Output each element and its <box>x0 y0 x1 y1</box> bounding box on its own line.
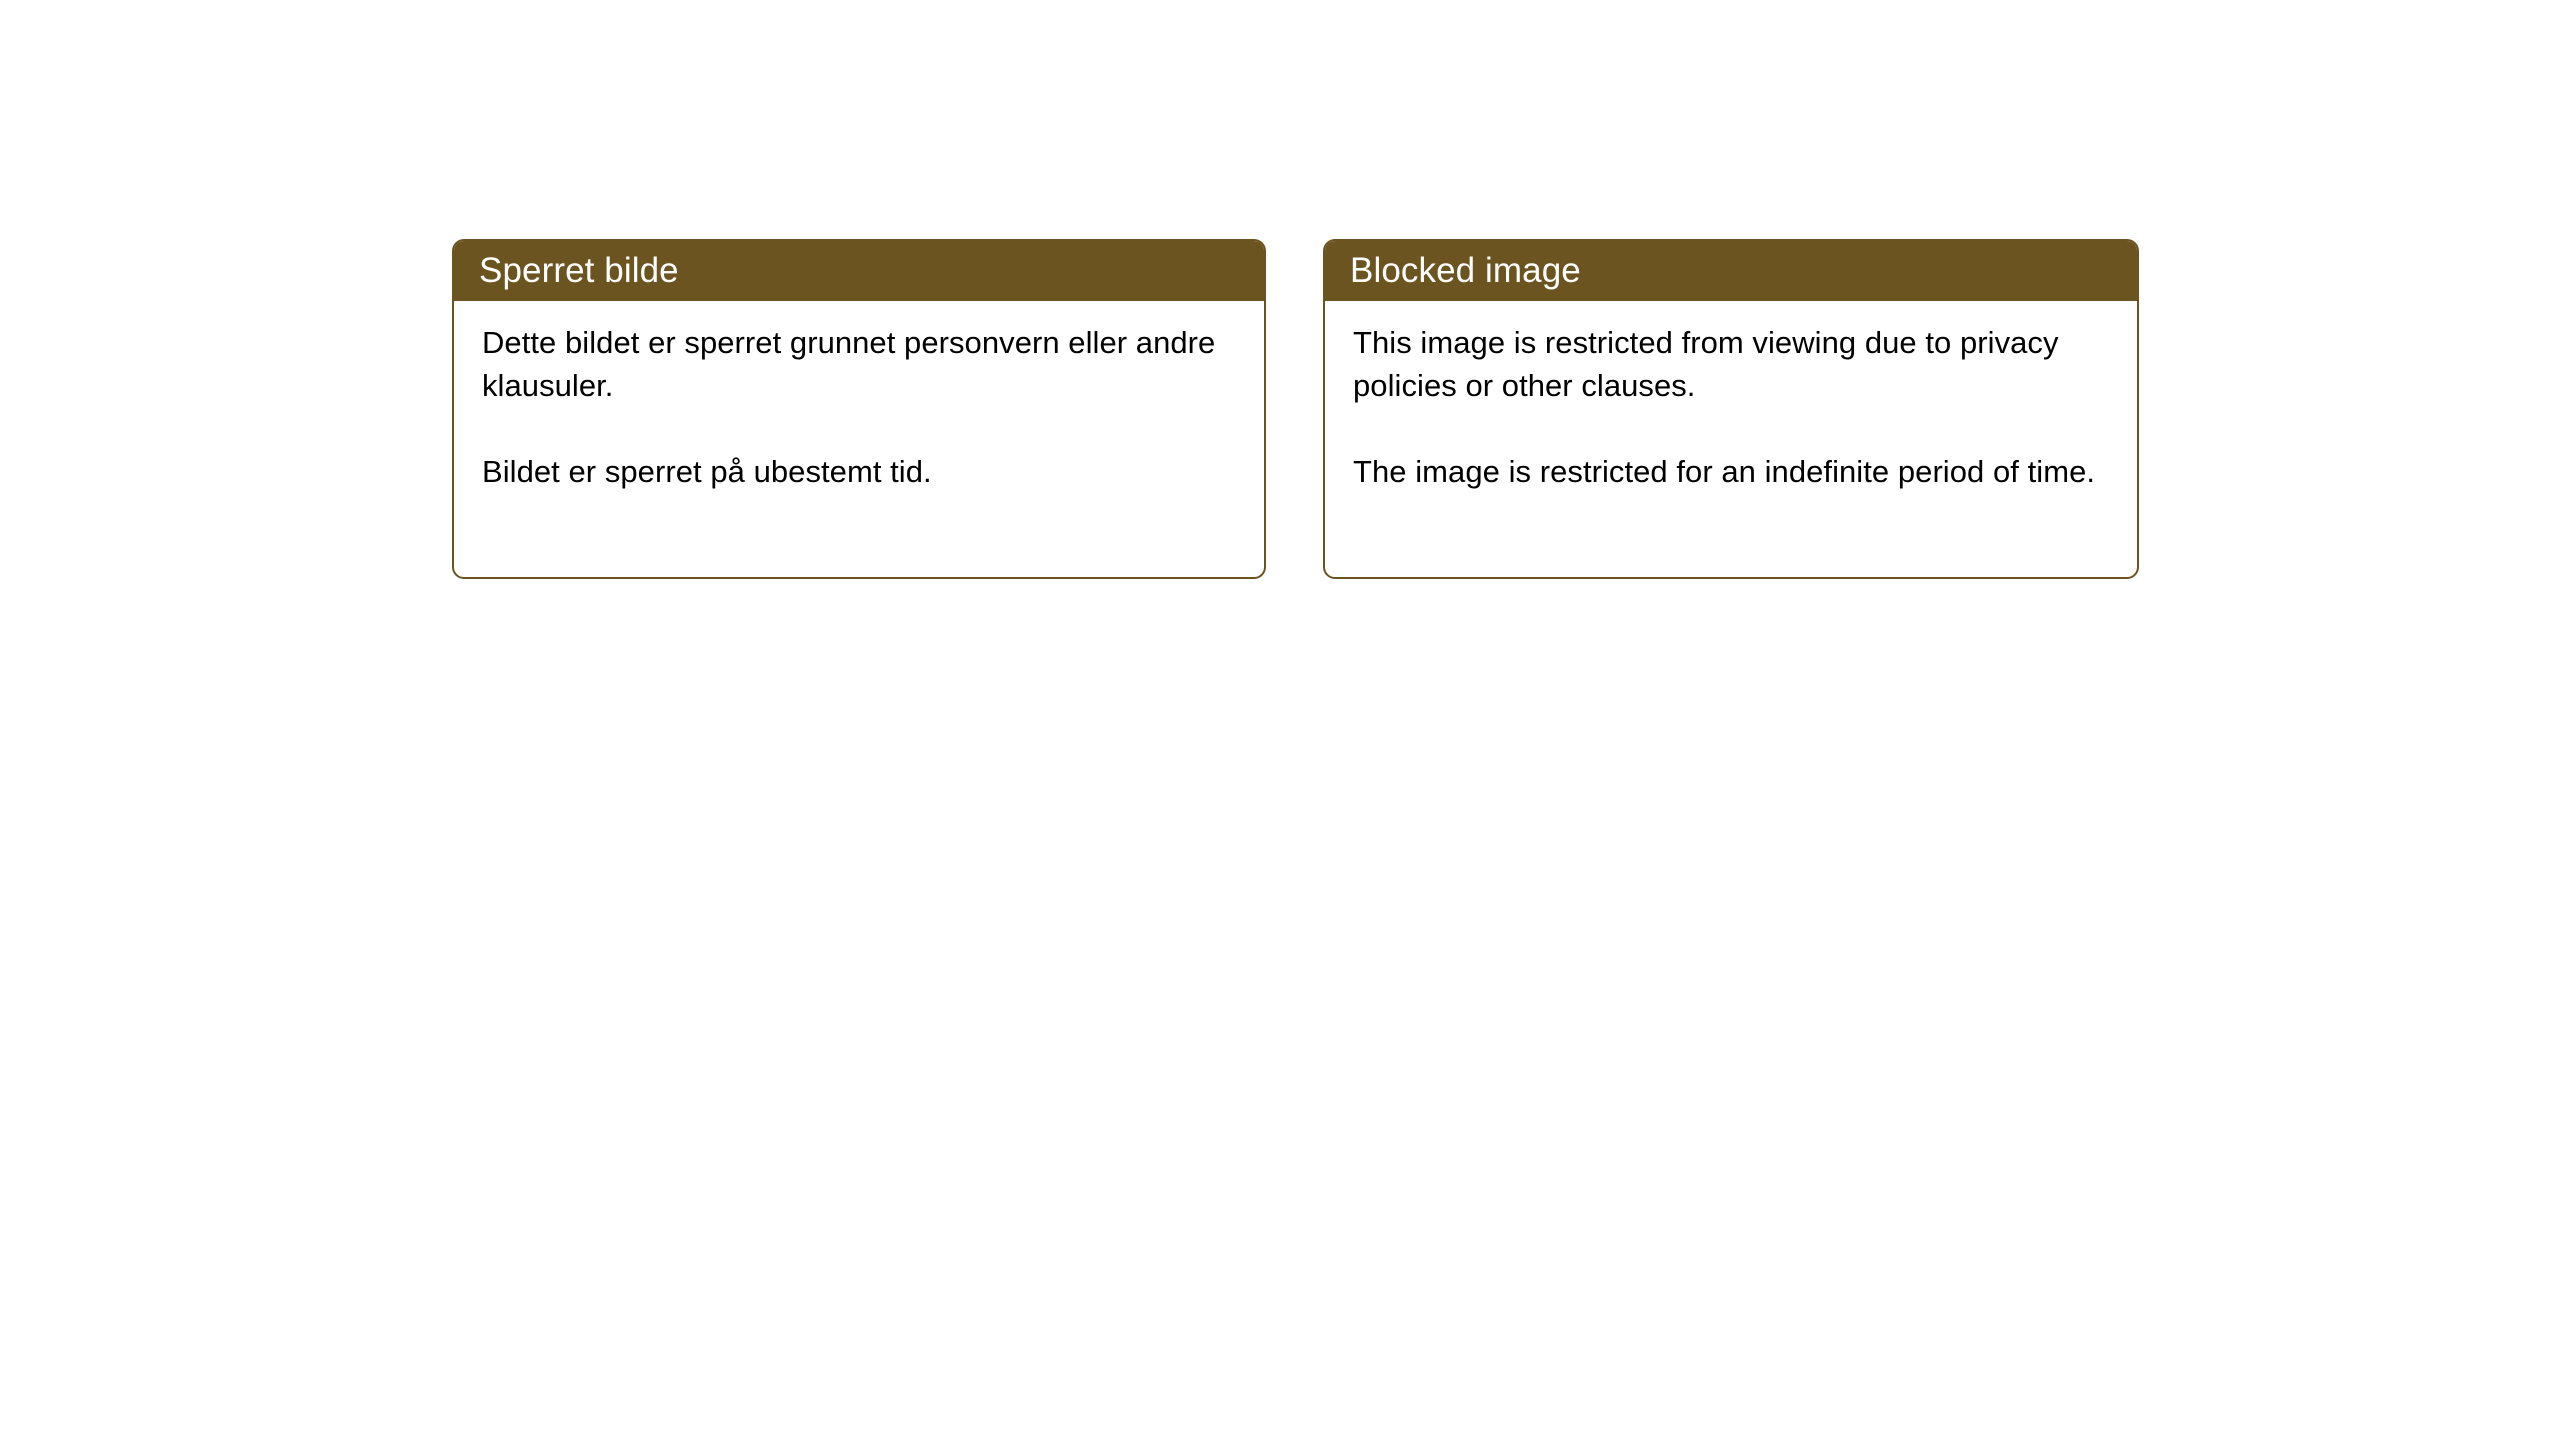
card-title-english: Blocked image <box>1350 253 1581 288</box>
blocked-image-notice-norwegian: Sperret bilde Dette bildet er sperret gr… <box>452 239 1266 579</box>
card-paragraph-primary-norwegian: Dette bildet er sperret grunnet personve… <box>482 321 1236 407</box>
card-body-english: This image is restricted from viewing du… <box>1325 301 2137 493</box>
card-paragraph-secondary-norwegian: Bildet er sperret på ubestemt tid. <box>482 450 1236 493</box>
card-header-norwegian: Sperret bilde <box>452 239 1266 301</box>
blocked-image-notice-english: Blocked image This image is restricted f… <box>1323 239 2139 579</box>
card-paragraph-primary-english: This image is restricted from viewing du… <box>1353 321 2109 407</box>
card-title-norwegian: Sperret bilde <box>479 253 679 288</box>
page-canvas: Sperret bilde Dette bildet er sperret gr… <box>0 0 2560 1440</box>
card-paragraph-secondary-english: The image is restricted for an indefinit… <box>1353 450 2109 493</box>
card-header-english: Blocked image <box>1323 239 2139 301</box>
card-body-norwegian: Dette bildet er sperret grunnet personve… <box>454 301 1264 493</box>
